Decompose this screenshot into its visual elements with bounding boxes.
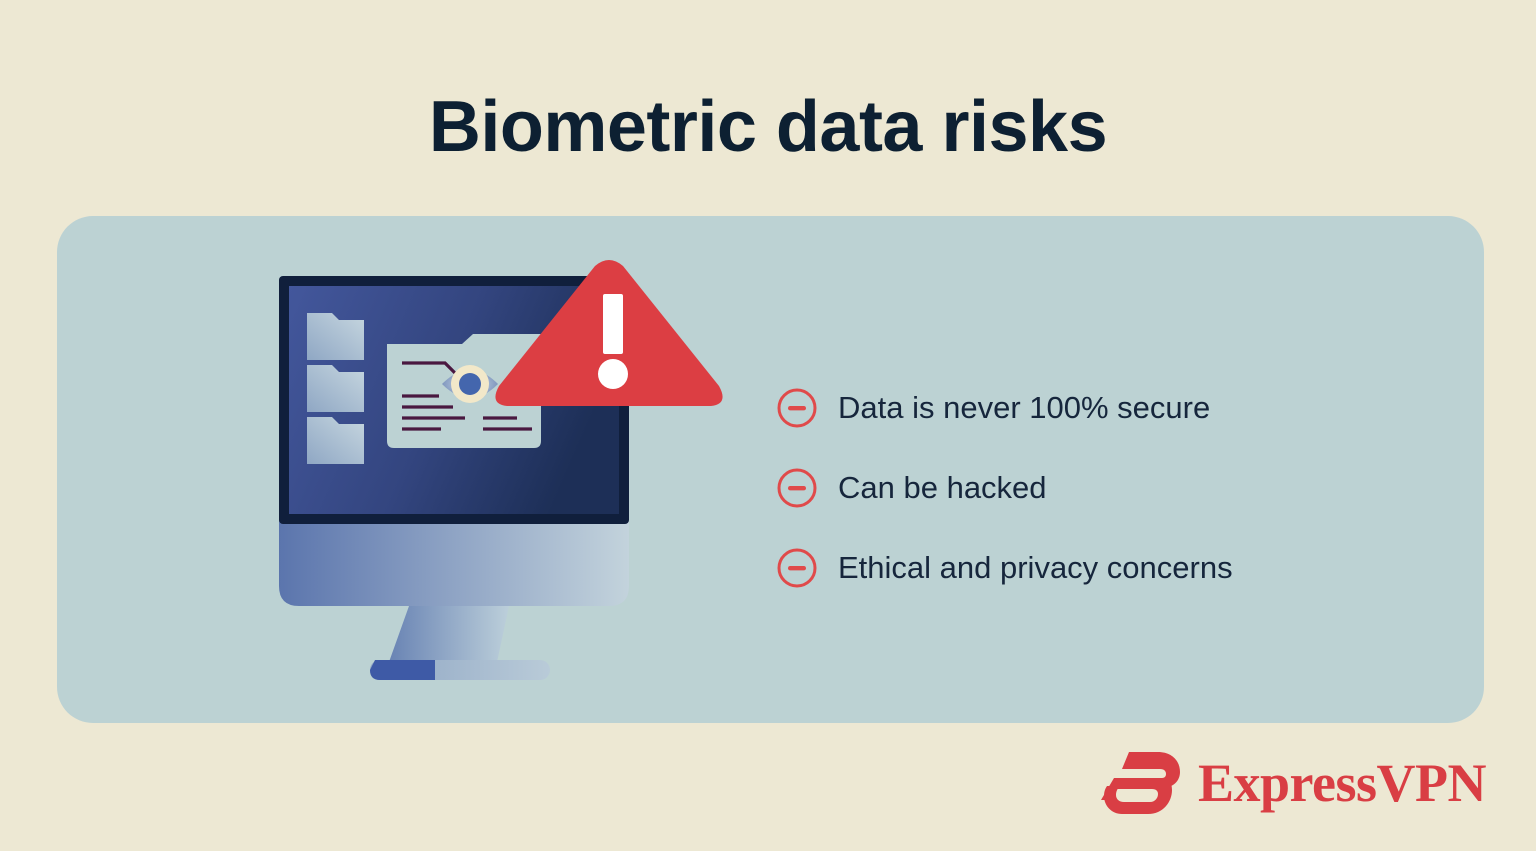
infographic-page: Biometric data risks xyxy=(0,0,1536,851)
page-title: Biometric data risks xyxy=(0,88,1536,167)
list-item-label: Can be hacked xyxy=(838,469,1047,506)
circle-minus-icon xyxy=(776,387,818,429)
list-item: Ethical and privacy concerns xyxy=(776,541,1416,595)
monitor-chin xyxy=(279,511,629,606)
list-item: Data is never 100% secure xyxy=(776,381,1416,435)
content-card: Data is never 100% secure Can be hacked xyxy=(57,216,1484,723)
expressvpn-e-logo-icon xyxy=(1098,748,1184,818)
risk-list: Data is never 100% secure Can be hacked xyxy=(776,381,1416,595)
circle-minus-icon xyxy=(776,467,818,509)
list-item: Can be hacked xyxy=(776,461,1416,515)
circle-minus-icon xyxy=(776,547,818,589)
monitor-base xyxy=(370,660,550,680)
screen-folder-icons xyxy=(307,313,364,464)
expressvpn-logo: ExpressVPN xyxy=(1098,748,1486,818)
monitor-illustration xyxy=(257,256,777,686)
list-item-label: Ethical and privacy concerns xyxy=(838,549,1233,586)
expressvpn-wordmark: ExpressVPN xyxy=(1198,756,1486,810)
list-item-label: Data is never 100% secure xyxy=(838,389,1210,426)
